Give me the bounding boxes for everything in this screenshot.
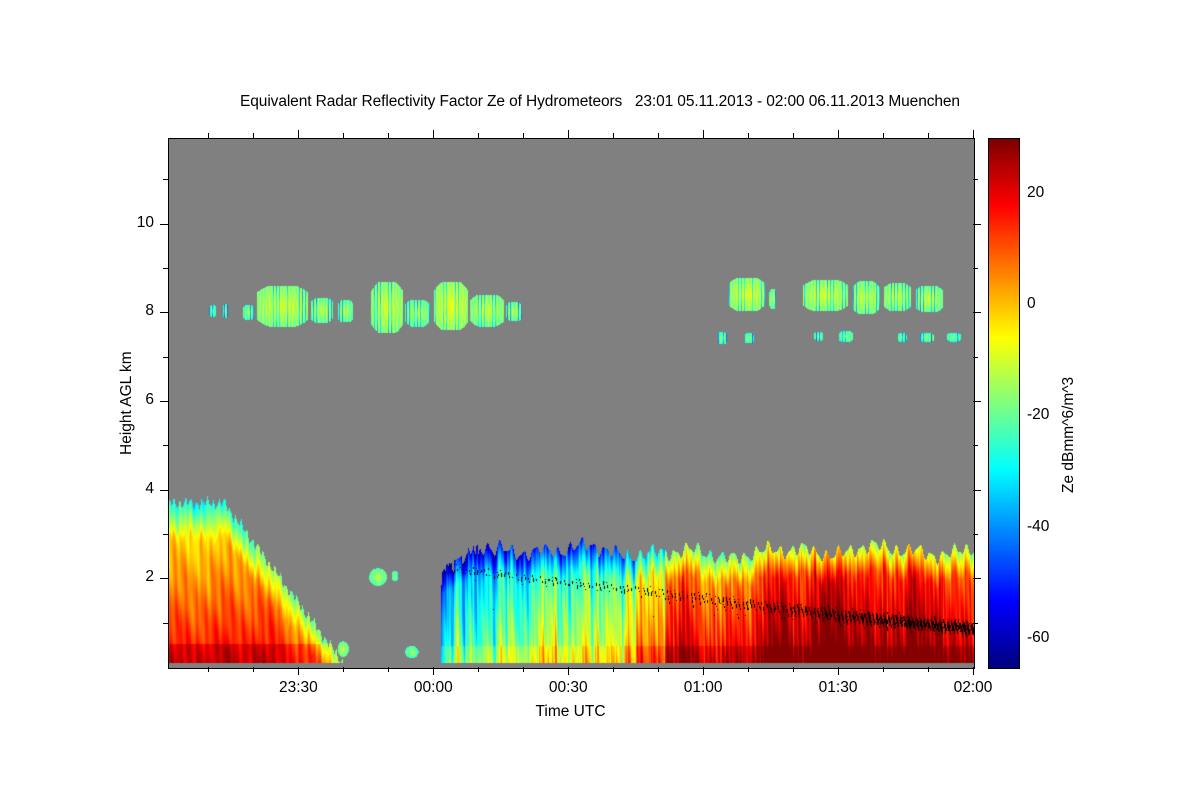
axis-tick-mark xyxy=(163,357,168,358)
y-axis-tick-label: 8 xyxy=(102,302,154,320)
axis-tick-mark xyxy=(568,130,569,138)
axis-tick-mark xyxy=(433,667,434,675)
axis-tick-mark xyxy=(523,667,524,672)
axis-tick-mark xyxy=(973,445,978,446)
axis-tick-mark xyxy=(478,133,479,138)
axis-tick-mark xyxy=(658,133,659,138)
axis-tick-mark xyxy=(928,133,929,138)
axis-tick-mark xyxy=(973,623,978,624)
axis-tick-mark xyxy=(973,179,978,180)
axis-tick-mark xyxy=(883,667,884,672)
axis-tick-mark xyxy=(973,130,974,138)
axis-tick-mark xyxy=(163,268,168,269)
axis-tick-mark xyxy=(973,312,981,313)
axis-tick-mark xyxy=(613,133,614,138)
axis-tick-mark xyxy=(973,534,978,535)
colorbar-canvas xyxy=(989,139,1019,668)
axis-tick-mark xyxy=(703,667,704,675)
axis-tick-mark xyxy=(160,578,168,579)
heatmap-canvas xyxy=(169,139,974,668)
axis-tick-mark xyxy=(658,667,659,672)
axis-tick-mark xyxy=(793,667,794,672)
x-axis-tick-label: 23:30 xyxy=(248,679,348,697)
axis-tick-mark xyxy=(388,667,389,672)
axis-tick-mark xyxy=(163,623,168,624)
axis-tick-mark xyxy=(160,490,168,491)
colorbar-label: Ze dBmm^6/m^3 xyxy=(1060,376,1078,492)
axis-tick-mark xyxy=(160,224,168,225)
y-axis-tick-label: 2 xyxy=(102,568,154,586)
axis-tick-mark xyxy=(838,667,839,675)
axis-tick-mark xyxy=(748,667,749,672)
axis-tick-mark xyxy=(973,224,981,225)
axis-tick-mark xyxy=(343,667,344,672)
colorbar-tick-label: -60 xyxy=(1027,629,1049,647)
axis-tick-mark xyxy=(973,357,978,358)
x-axis-tick-label: 01:30 xyxy=(788,679,888,697)
colorbar-tick-label: 20 xyxy=(1027,184,1044,202)
axis-tick-mark xyxy=(253,667,254,672)
page-title: Equivalent Radar Reflectivity Factor Ze … xyxy=(0,93,1200,111)
axis-tick-mark xyxy=(613,667,614,672)
x-axis-tick-label: 00:30 xyxy=(518,679,618,697)
colorbar-tick-label: 0 xyxy=(1027,295,1036,313)
axis-tick-mark xyxy=(478,667,479,672)
axis-tick-mark xyxy=(838,130,839,138)
axis-tick-mark xyxy=(703,130,704,138)
axis-tick-mark xyxy=(973,490,981,491)
axis-tick-mark xyxy=(973,578,981,579)
axis-tick-mark xyxy=(208,667,209,672)
axis-tick-mark xyxy=(298,667,299,675)
axis-tick-mark xyxy=(298,130,299,138)
colorbar-tick-label: -20 xyxy=(1027,406,1049,424)
x-axis-tick-label: 02:00 xyxy=(923,679,1023,697)
axis-tick-mark xyxy=(388,133,389,138)
y-axis-tick-label: 4 xyxy=(102,480,154,498)
y-axis-tick-label: 6 xyxy=(102,391,154,409)
axis-tick-mark xyxy=(343,133,344,138)
axis-tick-mark xyxy=(748,133,749,138)
axis-tick-mark xyxy=(253,133,254,138)
radar-reflectivity-figure: Equivalent Radar Reflectivity Factor Ze … xyxy=(0,0,1200,800)
axis-tick-mark xyxy=(160,401,168,402)
colorbar xyxy=(988,138,1020,669)
axis-tick-mark xyxy=(973,268,978,269)
axis-tick-mark xyxy=(163,534,168,535)
y-axis-tick-label: 10 xyxy=(102,214,154,232)
axis-tick-mark xyxy=(433,130,434,138)
x-axis-tick-label: 01:00 xyxy=(653,679,753,697)
axis-tick-mark xyxy=(568,667,569,675)
heatmap-plot-area xyxy=(168,138,975,669)
axis-tick-mark xyxy=(163,179,168,180)
colorbar-tick-label: -40 xyxy=(1027,518,1049,536)
axis-tick-mark xyxy=(163,445,168,446)
x-axis-label: Time UTC xyxy=(421,703,721,721)
axis-tick-mark xyxy=(973,401,981,402)
axis-tick-mark xyxy=(208,133,209,138)
axis-tick-mark xyxy=(928,667,929,672)
axis-tick-mark xyxy=(160,312,168,313)
axis-tick-mark xyxy=(883,133,884,138)
axis-tick-mark xyxy=(523,133,524,138)
x-axis-tick-label: 00:00 xyxy=(383,679,483,697)
axis-tick-mark xyxy=(973,667,974,675)
axis-tick-mark xyxy=(793,133,794,138)
